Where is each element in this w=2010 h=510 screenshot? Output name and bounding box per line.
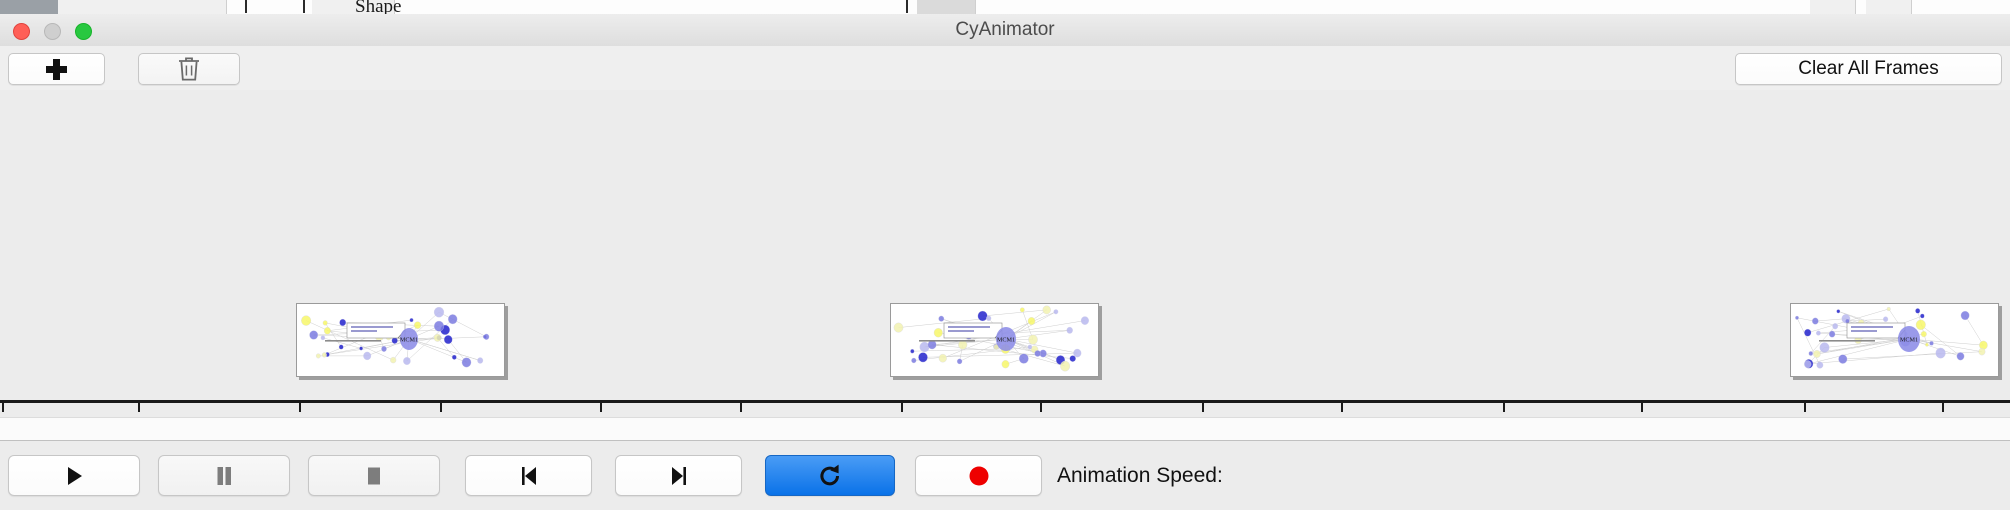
pause-button[interactable] [158, 455, 290, 496]
timeline-scrollbar-track[interactable] [0, 417, 2010, 441]
svg-text:MCM1: MCM1 [400, 337, 418, 344]
add-frame-button[interactable] [8, 53, 105, 85]
background-mark [245, 0, 247, 13]
window-title: CyAnimator [0, 14, 2010, 46]
background-window-label: Shape [355, 0, 401, 15]
background-mark [303, 0, 305, 13]
background-tab-active [0, 0, 59, 14]
ruler-tick-minor [138, 403, 140, 412]
skip-to-end-button[interactable] [615, 455, 742, 496]
play-button[interactable] [8, 455, 140, 496]
ruler-tick-minor [440, 403, 442, 412]
pause-icon [211, 463, 237, 489]
stop-icon [361, 463, 387, 489]
animation-speed-label: Animation Speed: [1057, 441, 1223, 510]
skip-to-start-button[interactable] [465, 455, 592, 496]
background-window-strip: Shape [0, 0, 2010, 15]
ruler-tick-major [2, 403, 4, 412]
ruler-tick-major [1804, 403, 1806, 412]
background-tab [1866, 0, 1912, 14]
svg-text:MCM1: MCM1 [997, 337, 1015, 344]
cyanimator-window: Shape CyAnimator Clear All Frames [0, 0, 2010, 510]
ruler-tick-minor [1341, 403, 1343, 412]
skip-back-icon [516, 463, 542, 489]
record-icon [966, 463, 992, 489]
skip-forward-icon [666, 463, 692, 489]
loop-icon [816, 462, 844, 490]
background-mark [906, 0, 908, 13]
trash-icon [177, 55, 201, 83]
ruler-tick-major [1202, 403, 1204, 412]
background-tab [1810, 0, 1856, 14]
timeline-panel[interactable]: MCM1MCM1MCM1 12131415161718 Seconds [0, 90, 2010, 412]
frame-thumbnail[interactable]: MCM1 [1790, 303, 1999, 377]
ruler-tick-major [1503, 403, 1505, 412]
background-tab [180, 0, 227, 14]
toolbar: Clear All Frames [0, 46, 2010, 91]
ruler-tick-minor [1641, 403, 1643, 412]
ruler-tick-major [299, 403, 301, 412]
ruler-tick-minor [740, 403, 742, 412]
play-icon [61, 463, 87, 489]
frame-thumbnail[interactable]: MCM1 [296, 303, 505, 377]
plus-icon [46, 59, 67, 80]
background-tab [58, 0, 181, 14]
ruler-tick-minor [1942, 403, 1944, 412]
clear-all-frames-button[interactable]: Clear All Frames [1735, 53, 2002, 85]
svg-text:MCM1: MCM1 [1900, 337, 1918, 344]
loop-button[interactable] [765, 455, 895, 496]
ruler-tick-minor [1040, 403, 1042, 412]
title-bar[interactable]: CyAnimator [0, 14, 2010, 47]
playback-control-bar: Animation Speed: [0, 440, 2010, 510]
frame-thumbnail[interactable]: MCM1 [890, 303, 1099, 377]
ruler-tick-major [600, 403, 602, 412]
delete-frame-button[interactable] [138, 53, 240, 85]
stop-button[interactable] [308, 455, 440, 496]
ruler-tick-major [901, 403, 903, 412]
ruler-baseline [0, 400, 2010, 403]
background-tab [917, 0, 976, 14]
record-button[interactable] [915, 455, 1042, 496]
